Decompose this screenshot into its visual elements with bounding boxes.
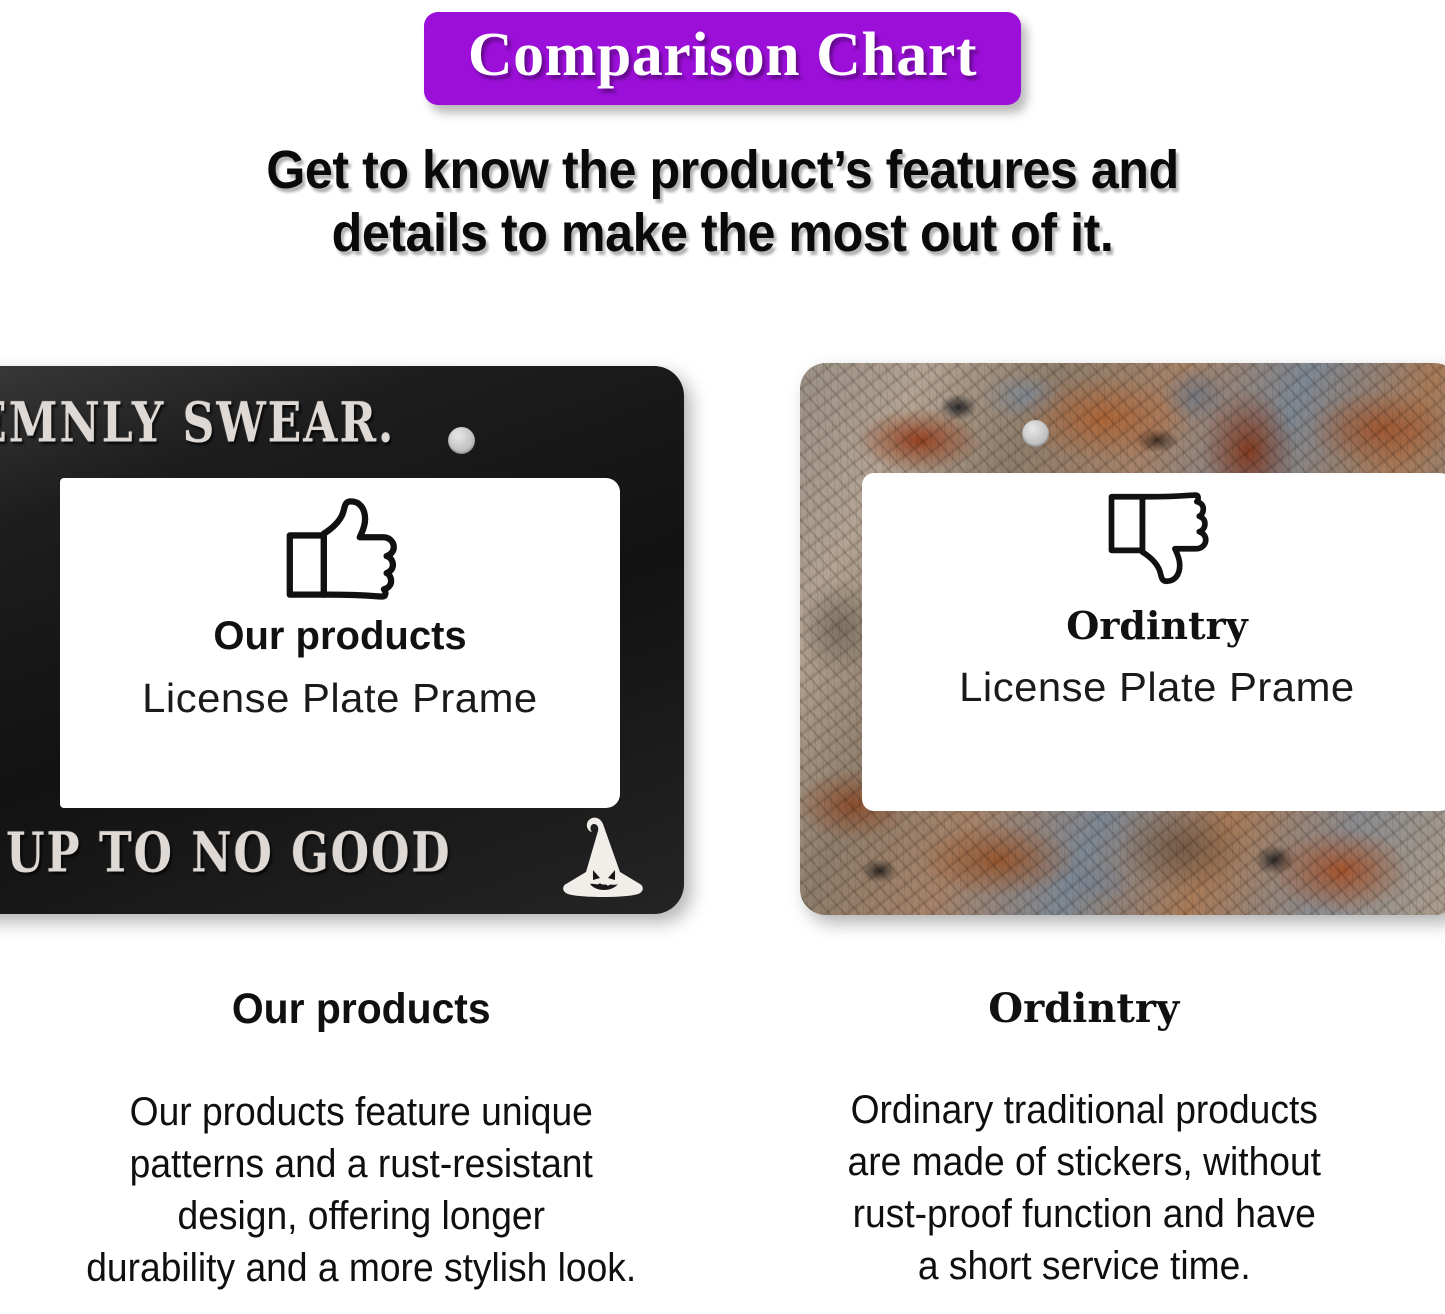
details-column-our-products: Our products Our products feature unique… <box>0 985 723 1294</box>
subtitle-line-2: details to make the most out of it. <box>51 202 1395 265</box>
thumbs-down-icon <box>1105 491 1209 587</box>
product-label-left: License Plate Prame <box>142 675 538 722</box>
details-left-line-2: patterns and a rust-resistant <box>46 1138 677 1190</box>
header: Comparison Chart Get to know the product… <box>0 0 1445 266</box>
plate-window-left: Our products License Plate Prame <box>60 478 620 808</box>
comparison-details: Our products Our products feature unique… <box>0 985 1445 1294</box>
brand-label-our-products: Our products <box>213 614 466 659</box>
witch-hat-ghost-icon <box>560 814 646 906</box>
plate-window-content-right: Ordintry License Plate Prame <box>862 473 1445 811</box>
details-right-line-2: are made of stickers, without <box>768 1136 1399 1188</box>
details-body-right: Ordinary traditional products are made o… <box>768 1084 1399 1292</box>
comparison-chart-banner: Comparison Chart <box>424 12 1021 105</box>
details-left-line-3: design, offering longer <box>46 1190 677 1242</box>
product-label-right: License Plate Prame <box>959 664 1355 711</box>
details-left-line-1: Our products feature unique <box>46 1086 677 1138</box>
details-heading-left: Our products <box>39 985 684 1034</box>
details-right-line-3: rust-proof function and have <box>768 1188 1399 1240</box>
our-product-license-plate-frame: OLEMNLY SWEAR. Our products License Plat… <box>0 366 684 914</box>
mounting-hole-icon <box>448 427 475 454</box>
page-subtitle: Get to know the product’s features and d… <box>51 139 1395 265</box>
details-column-ordinary: Ordintry Ordinary traditional products a… <box>723 985 1445 1294</box>
plate-window-right: Ordintry License Plate Prame <box>862 473 1445 811</box>
product-comparison-images: OLEMNLY SWEAR. Our products License Plat… <box>0 358 1445 918</box>
subtitle-line-1: Get to know the product’s features and <box>51 139 1395 202</box>
mounting-hole-icon <box>1022 420 1049 447</box>
title-banner-wrapper: Comparison Chart <box>0 12 1445 105</box>
details-body-left: Our products feature unique patterns and… <box>46 1086 677 1294</box>
page-title: Comparison Chart <box>468 20 977 91</box>
ordinary-product-license-plate-frame: Ordintry License Plate Prame <box>800 363 1445 915</box>
thumbs-up-icon <box>282 496 398 600</box>
plate-bottom-slogan: AM UP TO NO GOOD <box>0 822 452 886</box>
brand-label-ordinary: Ordintry <box>1066 603 1247 648</box>
plate-window-content-left: Our products License Plate Prame <box>60 478 620 808</box>
details-right-line-1: Ordinary traditional products <box>768 1084 1399 1136</box>
details-heading-right: Ordintry <box>745 985 1424 1032</box>
details-right-line-4: a short service time. <box>768 1240 1399 1292</box>
details-left-line-4: durability and a more stylish look. <box>46 1242 677 1294</box>
plate-top-slogan: OLEMNLY SWEAR. <box>0 392 395 456</box>
